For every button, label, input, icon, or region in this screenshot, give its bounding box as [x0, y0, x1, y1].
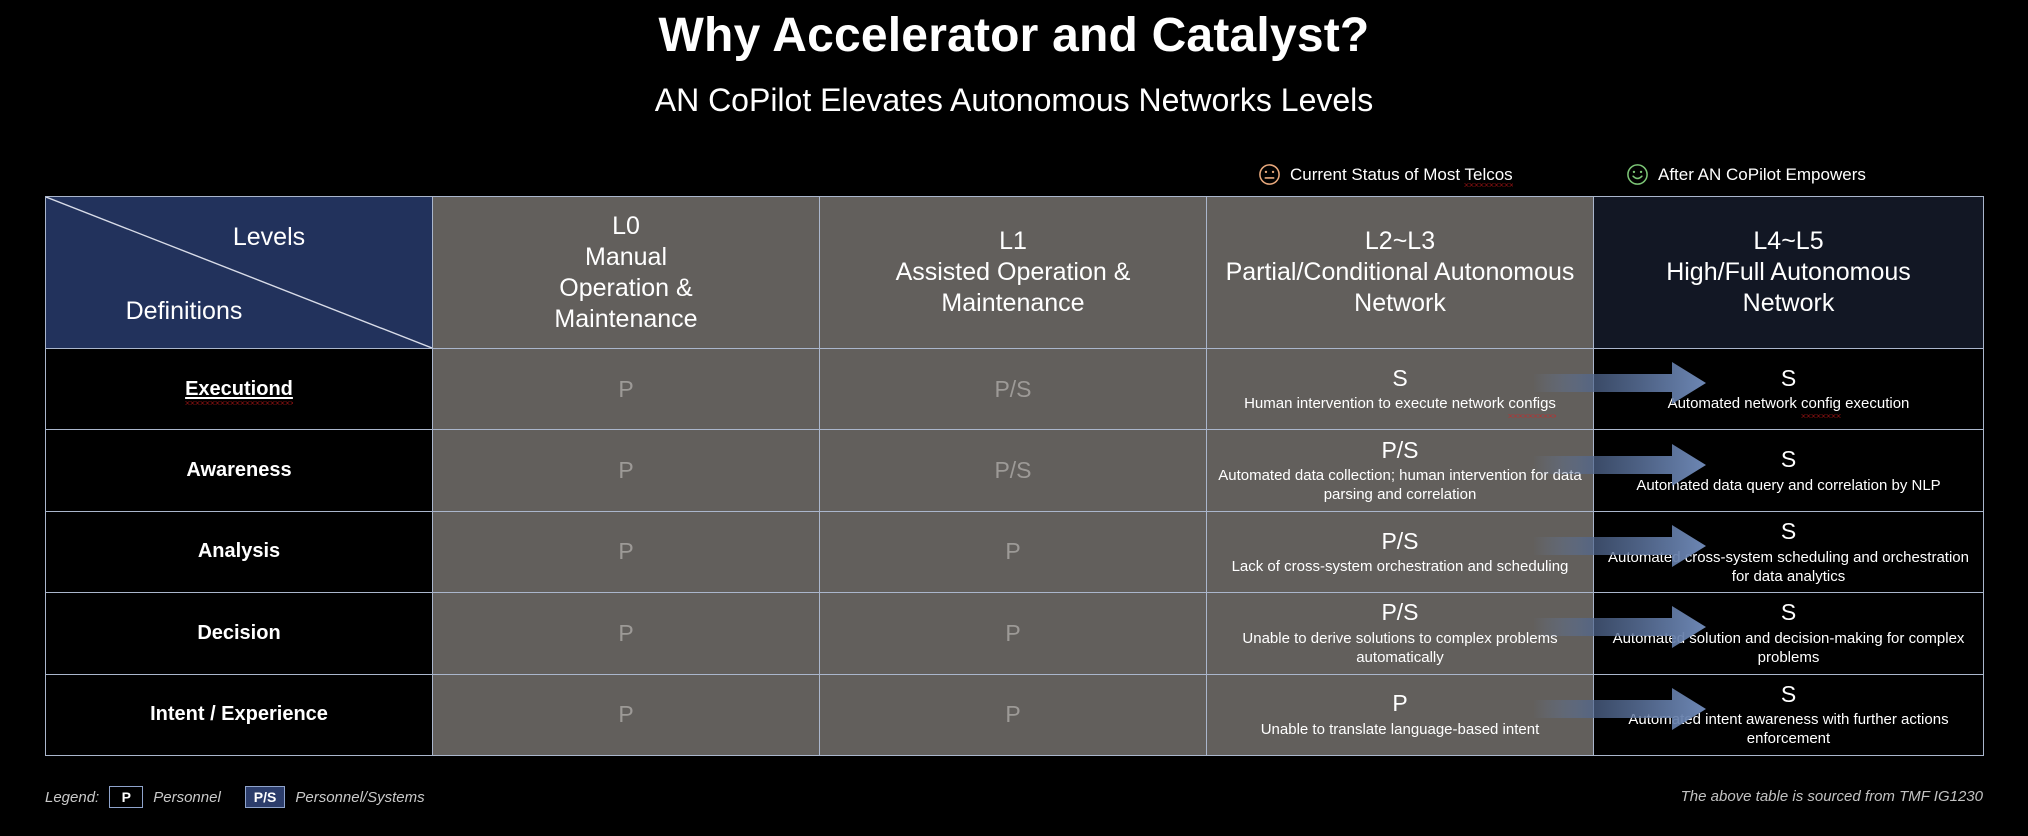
table-row: Executiond P P/S S Human intervention to… — [46, 349, 1984, 430]
cell-l1-intent: P — [820, 674, 1207, 755]
row-label-decision: Decision — [46, 593, 433, 674]
status-legend-label-after: After AN CoPilot Empowers — [1658, 165, 1866, 185]
header-l1-line-1: L1 — [820, 226, 1206, 257]
misspelled-word: config — [1801, 394, 1841, 413]
footer: Legend: P Personnel P/S Personnel/System… — [0, 786, 2028, 820]
legend-chip-p: P — [109, 786, 143, 808]
header-l2l3-line-1: L2~L3 — [1207, 226, 1593, 257]
cell-desc: Automated data collection; human interve… — [1217, 466, 1583, 504]
cell-l4l5-decision: S Automated solution and decision-making… — [1594, 593, 1984, 674]
header-l1-line-2: Assisted Operation & — [820, 257, 1206, 288]
cell-desc: Automated intent awareness with further … — [1604, 710, 1973, 748]
cell-desc: Human intervention to execute network co… — [1217, 394, 1583, 413]
cell-code: S — [1604, 446, 1973, 472]
slide-root: Why Accelerator and Catalyst? AN CoPilot… — [0, 0, 2028, 836]
cell-l1-decision: P — [820, 593, 1207, 674]
header-l1-line-3: Maintenance — [820, 288, 1206, 319]
cell-code: S — [1604, 599, 1973, 625]
row-label-execution: Executiond — [46, 349, 433, 430]
misspelled-word: configs — [1508, 394, 1556, 413]
table-row: Awareness P P/S P/S Automated data colle… — [46, 430, 1984, 511]
header-l4l5-line-1: L4~L5 — [1594, 226, 1983, 257]
status-legend: Current Status of Most Telcos After AN C… — [0, 163, 2028, 195]
table-row: Decision P P P/S Unable to derive soluti… — [46, 593, 1984, 674]
header-l0-line-4: Maintenance — [433, 304, 819, 335]
header-cell-l1: L1 Assisted Operation & Maintenance — [820, 197, 1207, 349]
header-cell-l4l5: L4~L5 High/Full Autonomous Network — [1594, 197, 1984, 349]
footer-legend: Legend: P Personnel P/S Personnel/System… — [45, 786, 439, 808]
header-cell-l0: L0 Manual Operation & Maintenance — [433, 197, 820, 349]
status-legend-label-current: Current Status of Most Telcos — [1290, 165, 1513, 185]
legend-title: Legend: — [45, 789, 99, 806]
row-label-text: Awareness — [186, 459, 291, 481]
legend-meaning-p: Personnel — [153, 789, 221, 806]
cell-code: S — [1604, 518, 1973, 544]
cell-l0-decision: P — [433, 593, 820, 674]
source-note: The above table is sourced from TMF IG12… — [1681, 788, 1983, 805]
table-header-row: Levels Definitions L0 Manual Operation &… — [46, 197, 1984, 349]
header-l2l3-line-2: Partial/Conditional Autonomous — [1207, 257, 1593, 288]
misspelled-word: Telcos — [1464, 165, 1512, 184]
status-legend-item-after: After AN CoPilot Empowers — [1626, 163, 1866, 186]
cell-code: P/S — [1217, 528, 1583, 554]
cell-code: S — [1604, 365, 1973, 391]
row-label-intent: Intent / Experience — [46, 674, 433, 755]
cell-code: P/S — [1217, 437, 1583, 463]
status-legend-item-current: Current Status of Most Telcos — [1258, 163, 1513, 186]
header-levels-label: Levels — [46, 223, 432, 252]
header-l4l5-line-3: Network — [1594, 288, 1983, 319]
cell-desc: Unable to derive solutions to complex pr… — [1217, 629, 1583, 667]
cell-l1-analysis: P — [820, 511, 1207, 592]
header-l0-line-1: L0 — [433, 211, 819, 242]
header-definitions-label: Definitions — [46, 297, 432, 326]
cell-desc: Automated data query and correlation by … — [1604, 476, 1973, 495]
cell-desc: Automated network config execution — [1604, 394, 1973, 413]
header-l4l5-line-2: High/Full Autonomous — [1594, 257, 1983, 288]
cell-desc: Lack of cross-system orchestration and s… — [1217, 557, 1583, 576]
row-label-analysis: Analysis — [46, 511, 433, 592]
cell-l0-execution: P — [433, 349, 820, 430]
row-label-text: Analysis — [198, 540, 280, 562]
header-corner-cell: Levels Definitions — [46, 197, 433, 349]
cell-l0-analysis: P — [433, 511, 820, 592]
header-cell-l2l3: L2~L3 Partial/Conditional Autonomous Net… — [1207, 197, 1594, 349]
cell-desc: Automated solution and decision-making f… — [1604, 629, 1973, 667]
cell-l4l5-intent: S Automated intent awareness with furthe… — [1594, 674, 1984, 755]
smiley-face-icon — [1626, 163, 1649, 186]
cell-l0-awareness: P — [433, 430, 820, 511]
row-label-text: Decision — [197, 622, 280, 644]
cell-l4l5-analysis: S Automated cross-system scheduling and … — [1594, 511, 1984, 592]
cell-l2l3-intent: P Unable to translate language-based int… — [1207, 674, 1594, 755]
cell-code: S — [1217, 365, 1583, 391]
neutral-face-icon — [1258, 163, 1281, 186]
cell-desc: Unable to translate language-based inten… — [1217, 720, 1583, 739]
cell-l1-execution: P/S — [820, 349, 1207, 430]
cell-code: S — [1604, 681, 1973, 707]
header-l2l3-line-3: Network — [1207, 288, 1593, 319]
header-l0-line-2: Manual — [433, 242, 819, 273]
cell-desc: Automated cross-system scheduling and or… — [1604, 548, 1973, 586]
cell-l2l3-decision: P/S Unable to derive solutions to comple… — [1207, 593, 1594, 674]
page-subtitle: AN CoPilot Elevates Autonomous Networks … — [0, 82, 2028, 119]
row-label-awareness: Awareness — [46, 430, 433, 511]
cell-l4l5-awareness: S Automated data query and correlation b… — [1594, 430, 1984, 511]
page-title: Why Accelerator and Catalyst? — [0, 8, 2028, 63]
row-label-text: Intent / Experience — [150, 703, 328, 725]
table-row: Intent / Experience P P P Unable to tran… — [46, 674, 1984, 755]
cell-l1-awareness: P/S — [820, 430, 1207, 511]
maturity-table: Levels Definitions L0 Manual Operation &… — [45, 196, 1984, 756]
row-label-text: Executiond — [185, 378, 293, 401]
legend-chip-ps: P/S — [245, 786, 286, 808]
cell-l0-intent: P — [433, 674, 820, 755]
table-row: Analysis P P P/S Lack of cross-system or… — [46, 511, 1984, 592]
cell-l2l3-awareness: P/S Automated data collection; human int… — [1207, 430, 1594, 511]
cell-l2l3-analysis: P/S Lack of cross-system orchestration a… — [1207, 511, 1594, 592]
cell-code: P — [1217, 690, 1583, 716]
header-l0-line-3: Operation & — [433, 273, 819, 304]
cell-l2l3-execution: S Human intervention to execute network … — [1207, 349, 1594, 430]
cell-code: P/S — [1217, 599, 1583, 625]
cell-l4l5-execution: S Automated network config execution — [1594, 349, 1984, 430]
legend-meaning-ps: Personnel/Systems — [295, 789, 424, 806]
